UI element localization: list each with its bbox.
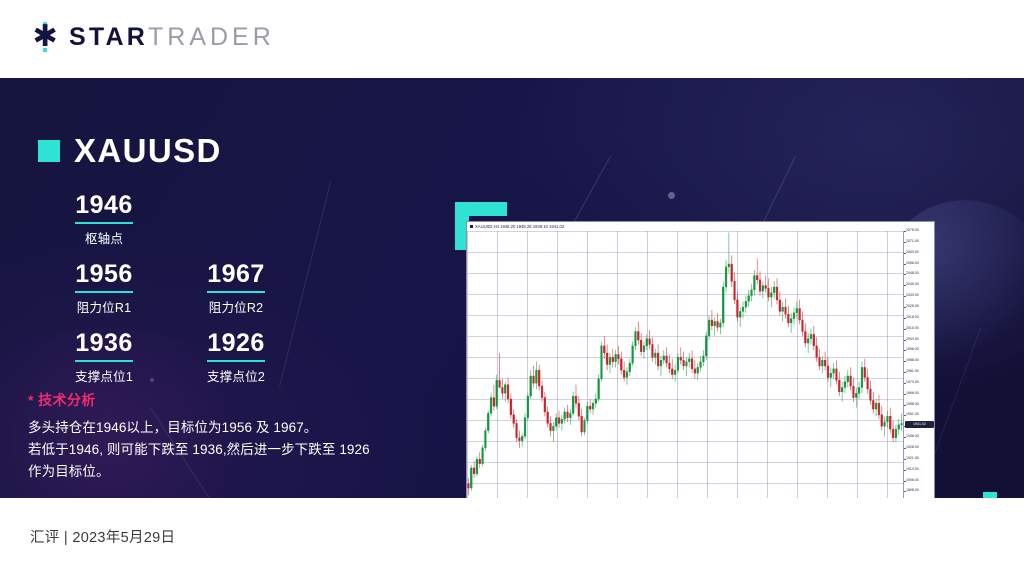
price-tick: 1951.00 (906, 413, 919, 417)
candlestick-series (467, 231, 903, 498)
chart-plot-area[interactable] (467, 231, 903, 498)
dot-decoration (668, 192, 675, 199)
price-tick: 2040.00 (906, 283, 919, 287)
chart-price-axis[interactable]: 2075.002071.002063.002056.002048.002040.… (903, 231, 934, 498)
chart-title: XAUUSD,H4 1946.20 1948.26 1939.10 1941.0… (467, 222, 934, 231)
price-tick: 2010.00 (906, 327, 919, 331)
footer-caption: 汇评 | 2023年5月29日 (30, 526, 175, 547)
level-value: 1926 (207, 330, 265, 362)
level-support-1: 1936 支撑点位1 (38, 330, 170, 385)
level-label: 枢轴点 (38, 228, 170, 247)
level-label: 阻力位R2 (170, 297, 302, 316)
level-value: 1946 (75, 192, 133, 224)
title-square-icon (38, 140, 60, 162)
page-title: XAUUSD (38, 132, 222, 170)
price-tick: 1913.00 (906, 468, 919, 472)
price-tick: 1898.00 (906, 489, 919, 493)
analysis-line: 多头持仓在1946以上，目标位为1956 及 1967。 (28, 417, 428, 439)
price-tick: 1958.00 (906, 403, 919, 407)
levels-row-support: 1936 支撑点位1 1926 支撑点位2 (38, 330, 398, 385)
level-pivot: 1946 枢轴点 (38, 192, 170, 247)
price-tick: 2063.00 (906, 251, 919, 255)
current-price-tag: 1941.02 (905, 421, 934, 428)
technical-analysis: * 技术分析 多头持仓在1946以上，目标位为1956 及 1967。 若低于1… (28, 390, 428, 483)
levels-row-resistance: 1956 阻力位R1 1967 阻力位R2 (38, 261, 398, 316)
analysis-heading: * 技术分析 (28, 390, 428, 410)
price-tick: 1966.00 (906, 392, 919, 396)
page-footer: 汇评 | 2023年5月29日 (0, 498, 1024, 576)
price-tick: 2048.00 (906, 272, 919, 276)
price-tick: 2018.00 (906, 316, 919, 320)
logo-asterisk-glyph: ✱ (33, 25, 57, 49)
chart-title-text: XAUUSD,H4 1946.20 1948.26 1939.10 1941.0… (475, 224, 564, 229)
level-support-2: 1926 支撑点位2 (170, 330, 302, 385)
price-tick: 1928.00 (906, 446, 919, 450)
price-tick: 1906.00 (906, 479, 919, 483)
price-tick: 1921.00 (906, 457, 919, 461)
level-label: 支撑点位1 (38, 366, 170, 385)
level-value: 1956 (75, 261, 133, 293)
price-tick: 2071.00 (906, 240, 919, 244)
price-tick: 2033.00 (906, 294, 919, 298)
level-value: 1936 (75, 330, 133, 362)
brand-star: STAR (69, 23, 148, 52)
level-value: 1967 (207, 261, 265, 293)
price-tick: 1988.00 (906, 359, 919, 363)
price-chart[interactable]: XAUUSD,H4 1946.20 1948.26 1939.10 1941.0… (466, 221, 935, 498)
price-tick: 2075.00 (906, 229, 919, 233)
slide-root: ✱ STAR TRADER XAUUSD 19 (0, 0, 1024, 576)
price-tick: 1981.00 (906, 370, 919, 374)
levels-row-pivot: 1946 枢轴点 (38, 192, 398, 247)
instrument-symbol: XAUUSD (74, 132, 222, 170)
page-header: ✱ STAR TRADER (0, 0, 1024, 78)
price-tick: 1996.00 (906, 348, 919, 352)
pivot-levels: 1946 枢轴点 1956 阻力位R1 1967 阻力位R2 1936 支撑点 (38, 192, 398, 399)
price-tick: 2056.00 (906, 262, 919, 266)
brand-wordmark: STAR TRADER (69, 23, 275, 52)
brand-trader: TRADER (148, 23, 275, 52)
analysis-line: 作为目标位。 (28, 461, 428, 483)
analysis-line: 若低于1946, 则可能下跌至 1936,然后进一步下跌至 1926 (28, 439, 428, 461)
level-resistance-2: 1967 阻力位R2 (170, 261, 302, 316)
price-tick: 1936.00 (906, 435, 919, 439)
level-label: 阻力位R1 (38, 297, 170, 316)
asterisk-star-icon: ✱ (30, 22, 60, 52)
price-tick: 2025.00 (906, 305, 919, 309)
content-stage: XAUUSD 1946 枢轴点 1956 阻力位R1 1967 阻力位R2 (0, 78, 1024, 498)
price-tick: 2003.00 (906, 338, 919, 342)
logo-tick-bottom (43, 48, 47, 52)
price-tick: 1973.00 (906, 381, 919, 385)
level-label: 支撑点位2 (170, 366, 302, 385)
chart-title-marker-icon (470, 225, 473, 228)
level-resistance-1: 1956 阻力位R1 (38, 261, 170, 316)
brand-logo[interactable]: ✱ STAR TRADER (30, 22, 275, 52)
